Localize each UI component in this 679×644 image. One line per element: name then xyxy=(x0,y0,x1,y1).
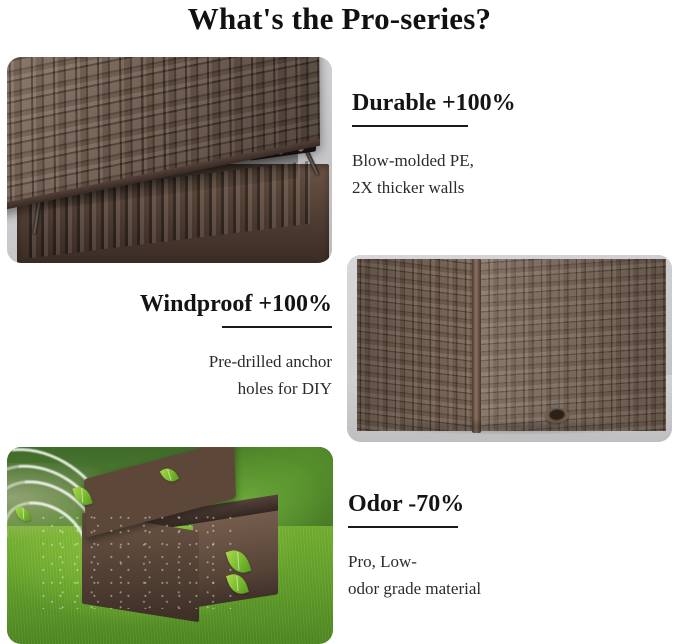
feature-windproof-body-line: holes for DIY xyxy=(92,375,332,402)
contact-shadow xyxy=(380,419,647,435)
feature-durable-body-line: 2X thicker walls xyxy=(352,174,652,201)
feature-windproof-rule xyxy=(222,326,332,328)
corner-anchor-hole-photo xyxy=(347,255,672,442)
photo-content xyxy=(7,57,332,263)
feature-odor-body-line: odor grade material xyxy=(348,575,648,602)
feature-windproof-body: Pre-drilled anchor holes for DIY xyxy=(92,348,332,402)
feature-durable-rule xyxy=(352,125,468,127)
feature-windproof: Windproof +100% Pre-drilled anchor holes… xyxy=(92,289,332,402)
box-left-face xyxy=(357,259,474,431)
feature-odor-body-line: Pro, Low- xyxy=(348,548,648,575)
feature-windproof-body-line: Pre-drilled anchor xyxy=(92,348,332,375)
feature-durable-heading: Durable +100% xyxy=(352,88,652,118)
face-shading xyxy=(357,259,474,431)
feature-windproof-heading: Windproof +100% xyxy=(92,289,332,319)
feature-durable-body-line: Blow-molded PE, xyxy=(352,147,652,174)
photo-content xyxy=(7,447,333,644)
face-shading xyxy=(477,259,666,431)
box-corner-edge xyxy=(472,259,481,433)
feature-odor-heading: Odor -70% xyxy=(348,489,648,519)
fresh-air-particles xyxy=(40,514,236,609)
feature-durable-body: Blow-molded PE, 2X thicker walls xyxy=(352,147,652,201)
photo-content xyxy=(347,255,672,442)
feature-durable: Durable +100% Blow-molded PE, 2X thicker… xyxy=(352,88,652,201)
garden-airflow-photo xyxy=(7,447,333,644)
feature-odor-body: Pro, Low- odor grade material xyxy=(348,548,648,602)
feature-odor-rule xyxy=(348,526,458,528)
box-right-face xyxy=(477,259,666,431)
page-title: What's the Pro-series? xyxy=(0,0,679,38)
open-lid-deck-box-photo xyxy=(7,57,332,263)
feature-odor: Odor -70% Pro, Low- odor grade material xyxy=(348,489,648,602)
